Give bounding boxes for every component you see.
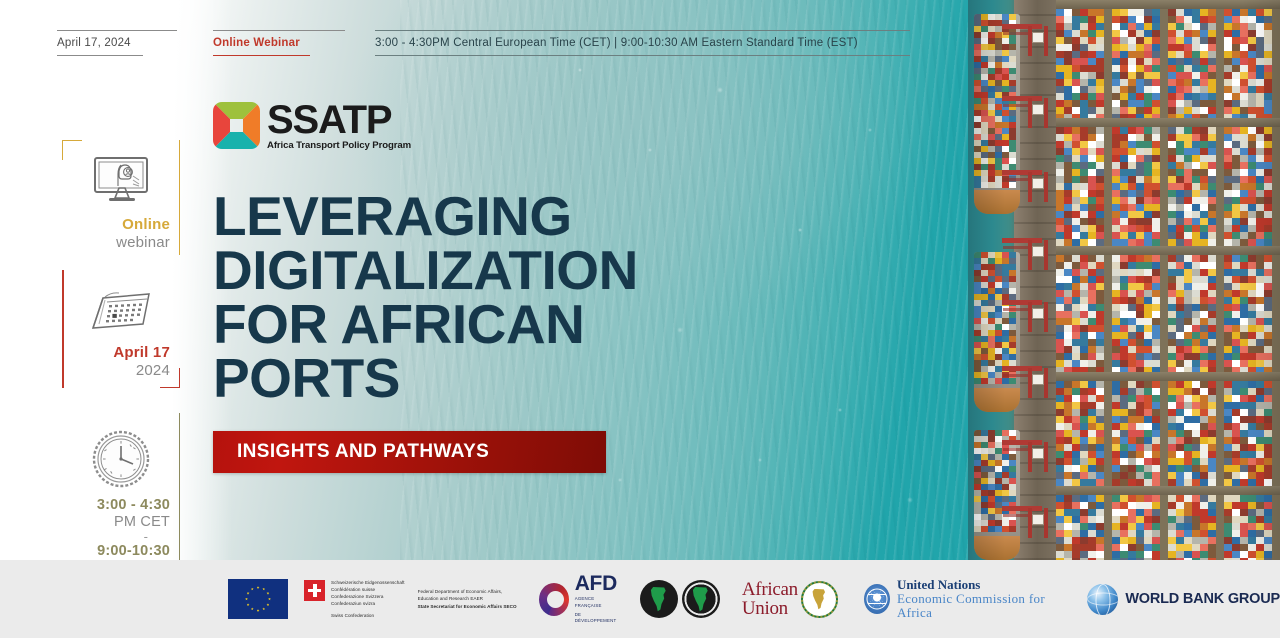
logo-afd: AFD AGENCE FRANÇAISE DE DÉVELOPPEMENT bbox=[539, 573, 620, 624]
ssatp-wordmark: SSATP Africa Transport Policy Program bbox=[267, 100, 411, 151]
partner-logo-footer: Schweizerische Eidgenossenschaft Confédé… bbox=[0, 560, 1280, 638]
meta-event-type-text: Online Webinar bbox=[213, 30, 321, 56]
seco-text-block: Federal Department of Economic Affairs, … bbox=[418, 588, 517, 609]
subtitle-text: INSIGHTS AND PATHWAYS bbox=[213, 441, 489, 463]
corner-bracket bbox=[160, 368, 180, 388]
seco-line-2: Education and Research EAER bbox=[418, 595, 517, 602]
eu-star bbox=[251, 607, 254, 610]
gantry-crane bbox=[1002, 506, 1042, 511]
sidebar-box-time-cet: 3:00 - 4:30 bbox=[68, 497, 170, 514]
un-text-block: United Nations Economic Commission for A… bbox=[897, 578, 1059, 621]
page-title: LEVERAGING DIGITALIZATION FOR AFRICAN PO… bbox=[213, 189, 638, 406]
eu-star bbox=[262, 607, 265, 610]
gantry-crane bbox=[1002, 300, 1042, 305]
swiss-line-2: Confédération suisse bbox=[331, 586, 405, 593]
africa-continent-shape bbox=[691, 587, 710, 612]
logo-african-union: African Union bbox=[742, 580, 838, 618]
swiss-line-1: Schweizerische Eidgenossenschaft bbox=[331, 579, 405, 586]
eu-star bbox=[257, 609, 260, 612]
sidebar-box-time-separator: - bbox=[68, 531, 170, 543]
sidebar-box-date: April 17 2024 bbox=[62, 270, 180, 388]
eu-star bbox=[245, 598, 248, 601]
afd-text-block: AFD AGENCE FRANÇAISE DE DÉVELOPPEMENT bbox=[575, 573, 620, 624]
eu-star bbox=[251, 588, 254, 591]
ssatp-tagline: Africa Transport Policy Program bbox=[267, 141, 411, 151]
top-meta-bar: April 17, 2024 Online Webinar 3:00 - 4:3… bbox=[0, 30, 1280, 72]
gantry-crane bbox=[1002, 238, 1042, 243]
logo-european-union bbox=[228, 579, 288, 619]
rule-bottom bbox=[57, 55, 143, 56]
container-ship bbox=[974, 252, 1020, 412]
au-line-2: Union bbox=[742, 599, 798, 618]
sidebar-box-time-est: 9:00-10:30 bbox=[68, 543, 170, 560]
rule-top bbox=[57, 30, 177, 31]
sidebar-box-online-line1: Online bbox=[68, 216, 170, 234]
meta-time-text: 3:00 - 4:30PM Central European Time (CET… bbox=[375, 30, 910, 56]
edge-accent bbox=[179, 140, 181, 255]
container-port-terminal bbox=[968, 0, 1280, 560]
logo-africa-emblems bbox=[640, 580, 720, 618]
ssatp-name: SSATP bbox=[267, 100, 411, 140]
eu-star bbox=[268, 598, 271, 601]
swiss-sub: Swiss Confederation bbox=[331, 612, 405, 619]
gantry-crane bbox=[1002, 170, 1042, 175]
seco-line-1: Federal Department of Economic Affairs, bbox=[418, 588, 517, 595]
swiss-text-block: Schweizerische Eidgenossenschaft Confédé… bbox=[331, 579, 405, 620]
eu-star bbox=[266, 603, 269, 606]
logo-world-bank-group: WORLD BANK GROUP bbox=[1087, 584, 1280, 615]
title-line-4: PORTS bbox=[213, 351, 638, 405]
eu-star bbox=[262, 588, 265, 591]
au-emblem-icon bbox=[801, 581, 838, 618]
logo-swiss-confederation: Schweizerische Eidgenossenschaft Confédé… bbox=[304, 579, 405, 620]
afd-ring-icon bbox=[539, 583, 569, 616]
gantry-crane bbox=[1002, 440, 1042, 445]
container-ship bbox=[974, 430, 1020, 560]
meta-time-zones: 3:00 - 4:30PM Central European Time (CET… bbox=[375, 30, 910, 56]
sidebar-box-online-text: Online webinar bbox=[62, 210, 180, 263]
swiss-line-3: Confederazione Svizzera bbox=[331, 593, 405, 600]
eu-flag-icon bbox=[228, 579, 288, 619]
seco-line-3: State Secretariat for Economic Affairs S… bbox=[418, 603, 517, 610]
world-bank-globe-icon bbox=[1087, 584, 1118, 615]
desk-calendar-icon bbox=[62, 270, 180, 338]
gantry-crane bbox=[1002, 366, 1042, 371]
sidebar-box-date-line1: April 17 bbox=[68, 344, 170, 362]
meta-date-text: April 17, 2024 bbox=[57, 30, 177, 56]
container-yard bbox=[1056, 0, 1280, 560]
gantry-crane bbox=[1002, 96, 1042, 101]
meta-event-type: Online Webinar bbox=[213, 30, 321, 56]
eu-star bbox=[247, 592, 250, 595]
ssatp-x-mark-icon bbox=[213, 102, 260, 149]
main-content: SSATP Africa Transport Policy Program LE… bbox=[213, 100, 638, 473]
sidebar-box-online-webinar: Online webinar bbox=[62, 140, 180, 255]
rule-bottom-accent bbox=[213, 55, 310, 57]
sidebar-box-time-cet-label: PM CET bbox=[68, 514, 170, 531]
corner-bracket bbox=[62, 140, 82, 160]
subtitle-banner: INSIGHTS AND PATHWAYS bbox=[213, 431, 606, 473]
eu-star bbox=[257, 586, 260, 589]
swiss-line-4: Confederaziun svizra bbox=[331, 600, 405, 607]
afd-sub-1: AGENCE FRANÇAISE bbox=[575, 596, 620, 609]
eu-star bbox=[247, 603, 250, 606]
eu-star bbox=[266, 592, 269, 595]
un-line-2: Economic Commission for Africa bbox=[897, 592, 1059, 621]
world-bank-text: WORLD BANK GROUP bbox=[1125, 591, 1280, 607]
au-line-1: African bbox=[742, 580, 798, 599]
sidebar-box-date-line2: 2024 bbox=[68, 362, 170, 380]
logo-seco: Federal Department of Economic Affairs, … bbox=[418, 588, 517, 609]
rule-top bbox=[213, 30, 345, 31]
swiss-cross-icon bbox=[304, 580, 325, 601]
sidebar-box-online-line2: webinar bbox=[68, 234, 170, 252]
rule-bottom bbox=[375, 55, 910, 56]
afd-sub-2: DE DÉVELOPPEMENT bbox=[575, 612, 620, 625]
africa-emblem-1-icon bbox=[640, 580, 678, 618]
meta-date: April 17, 2024 bbox=[57, 30, 177, 56]
rule-top bbox=[375, 30, 910, 31]
africa-emblem-2-icon bbox=[682, 580, 720, 618]
gantry-crane bbox=[1002, 24, 1042, 29]
wall-clock-icon bbox=[62, 413, 180, 491]
africa-continent-shape bbox=[811, 589, 827, 610]
un-emblem-icon bbox=[864, 584, 890, 614]
title-line-2: DIGITALIZATION bbox=[213, 243, 638, 297]
africa-continent-shape bbox=[649, 587, 668, 612]
title-line-3: FOR AFRICAN bbox=[213, 297, 638, 351]
un-line-1: United Nations bbox=[897, 578, 1059, 592]
afd-name: AFD bbox=[575, 573, 620, 594]
logo-un-eca: United Nations Economic Commission for A… bbox=[864, 578, 1060, 621]
au-text-block: African Union bbox=[742, 580, 798, 618]
ssatp-logo: SSATP Africa Transport Policy Program bbox=[213, 100, 638, 151]
edge-accent bbox=[62, 270, 64, 388]
quay-markings bbox=[1014, 0, 1056, 560]
title-line-1: LEVERAGING bbox=[213, 189, 638, 243]
